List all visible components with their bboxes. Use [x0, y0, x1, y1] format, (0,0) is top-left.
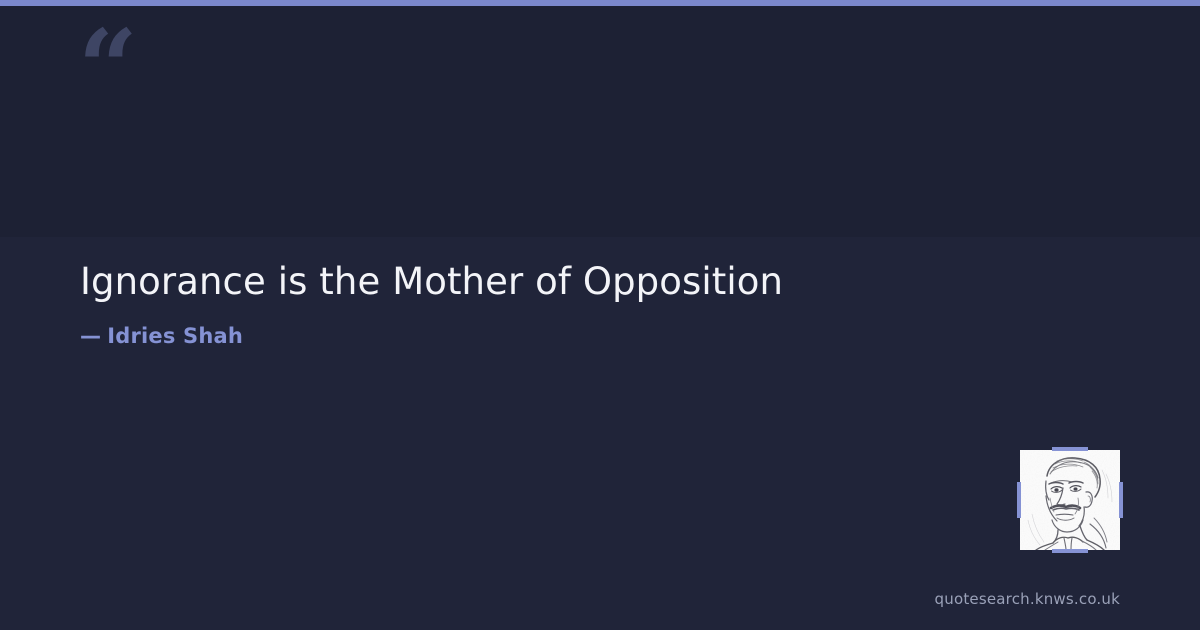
portrait-handle-left: [1017, 482, 1021, 518]
portrait-handle-top: [1052, 447, 1088, 451]
portrait-frame: [1020, 450, 1120, 550]
attribution-dash: —: [80, 324, 101, 348]
author-portrait: [1020, 450, 1120, 550]
quote-card: “ Ignorance is the Mother of Opposition …: [0, 0, 1200, 630]
portrait-handle-right: [1119, 482, 1123, 518]
portrait-handle-bottom: [1052, 549, 1088, 553]
attribution: —Idries Shah: [80, 324, 243, 348]
source-url: quotesearch.knws.co.uk: [935, 590, 1120, 608]
quote-mark-icon: “: [78, 16, 136, 120]
attribution-author: Idries Shah: [107, 324, 243, 348]
author-portrait-sketch-icon: [1020, 450, 1120, 550]
upper-band: [0, 6, 1200, 237]
quote-text: Ignorance is the Mother of Opposition: [80, 258, 1100, 305]
